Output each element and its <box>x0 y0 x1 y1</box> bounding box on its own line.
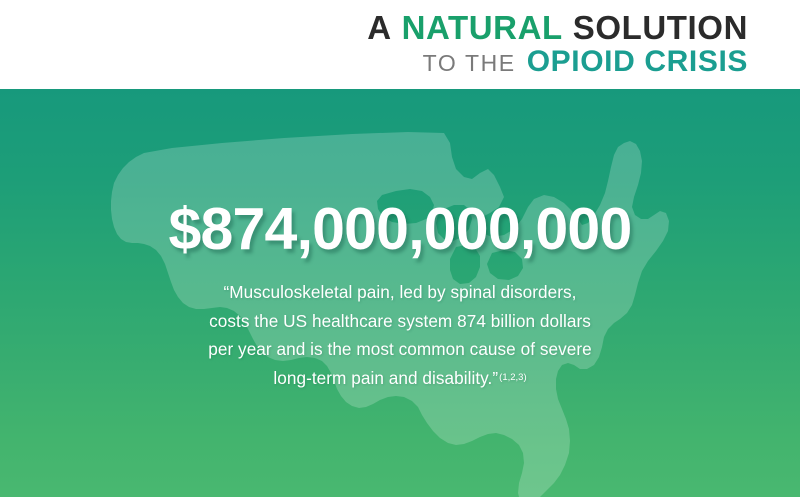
quote-line: costs the US healthcare system 874 billi… <box>165 307 635 336</box>
hero-content: $874,000,000,000 “Musculoskeletal pain, … <box>0 89 800 497</box>
citation-superscript: (1,2,3) <box>499 372 526 383</box>
title-prefix-to-the: TO THE <box>423 52 516 75</box>
quote-line: per year and is the most common cause of… <box>165 335 635 364</box>
statistic-value: $874,000,000,000 <box>169 200 632 259</box>
title-word-a: A <box>367 9 391 46</box>
page-title-line-1: ANATURALSOLUTION <box>367 11 748 45</box>
hero-panel: $874,000,000,000 “Musculoskeletal pain, … <box>0 89 800 497</box>
header-band: ANATURALSOLUTION TO THEOPIOIDCRISIS <box>0 0 800 89</box>
title-word-natural: NATURAL <box>402 9 563 46</box>
quote-line-text: long-term pain and disability.” <box>273 368 498 388</box>
quote-block: “Musculoskeletal pain, led by spinal dis… <box>165 278 635 392</box>
title-word-solution: SOLUTION <box>573 9 748 46</box>
title-word-crisis: CRISIS <box>644 47 748 78</box>
page-title-line-2: TO THEOPIOIDCRISIS <box>423 47 748 78</box>
quote-line-last: long-term pain and disability.”(1,2,3) <box>165 364 635 393</box>
title-word-opioid: OPIOID <box>527 47 636 78</box>
quote-line: “Musculoskeletal pain, led by spinal dis… <box>165 278 635 307</box>
infographic-root: ANATURALSOLUTION TO THEOPIOIDCRISIS $874… <box>0 0 800 497</box>
